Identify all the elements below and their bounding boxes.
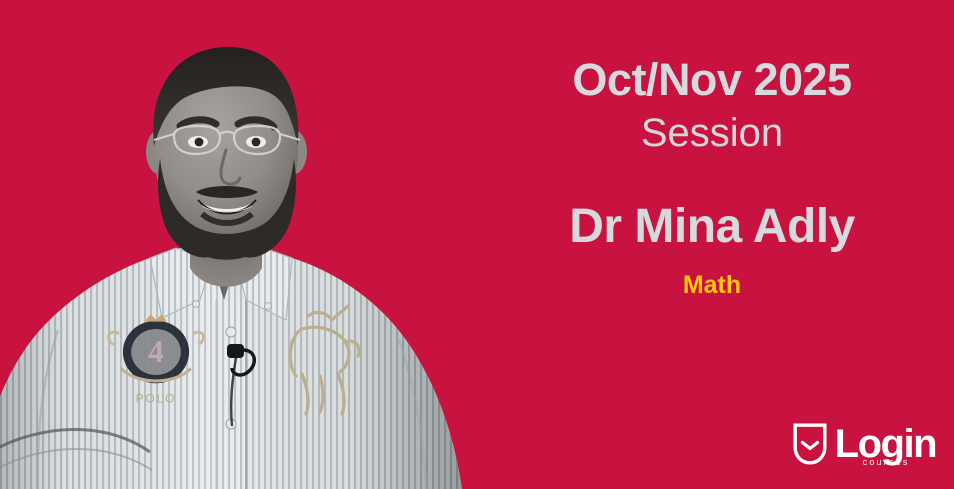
promo-text-block: Oct/Nov 2025 Session Dr Mina Adly Math <box>470 0 954 489</box>
portrait-image: 4 POLO <box>0 0 470 489</box>
svg-text:4: 4 <box>148 334 164 369</box>
logo-subtitle: courses <box>863 458 910 467</box>
face <box>153 47 300 260</box>
instructor-name: Dr Mina Adly <box>470 203 954 251</box>
session-label: Session <box>470 110 954 156</box>
instructor-portrait: 4 POLO <box>0 0 470 489</box>
svg-text:POLO: POLO <box>136 392 177 406</box>
logo-wordmark: Login courses <box>835 422 936 466</box>
subject-label: Math <box>470 273 954 298</box>
promo-banner: 4 POLO <box>0 0 954 489</box>
login-courses-logo[interactable]: Login courses <box>792 417 936 471</box>
session-date: Oct/Nov 2025 <box>470 57 954 102</box>
shield-chevron-icon <box>792 422 828 466</box>
